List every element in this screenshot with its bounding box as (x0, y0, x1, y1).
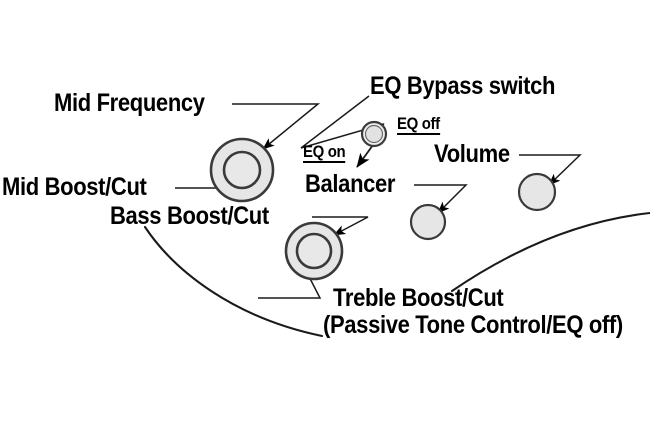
label-volume: Volume (434, 142, 510, 167)
balancer-knob[interactable] (411, 205, 445, 239)
label-mid-boost-cut: Mid Boost/Cut (2, 175, 147, 200)
label-eq-off: EQ off (397, 115, 440, 135)
label-treble-boost-cut: Treble Boost/Cut (333, 286, 503, 311)
diagram-canvas: Mid Frequency Mid Boost/Cut Bass Boost/C… (0, 0, 650, 430)
volume-knob[interactable] (519, 174, 555, 210)
label-mid-frequency: Mid Frequency (54, 91, 205, 116)
mid-knob[interactable] (211, 139, 273, 201)
label-treble-subtitle: (Passive Tone Control/EQ off) (323, 313, 623, 338)
body-outline-right (452, 213, 650, 291)
diagram-graphics (0, 0, 650, 430)
label-balancer: Balancer (305, 172, 395, 197)
label-eq-on: EQ on (303, 143, 345, 163)
label-eq-bypass-switch: EQ Bypass switch (370, 74, 555, 99)
bass-knob[interactable] (286, 223, 342, 279)
label-bass-boost-cut: Bass Boost/Cut (110, 204, 269, 229)
leader-eq-on (357, 145, 373, 167)
eq-bypass-switch[interactable] (362, 122, 386, 146)
